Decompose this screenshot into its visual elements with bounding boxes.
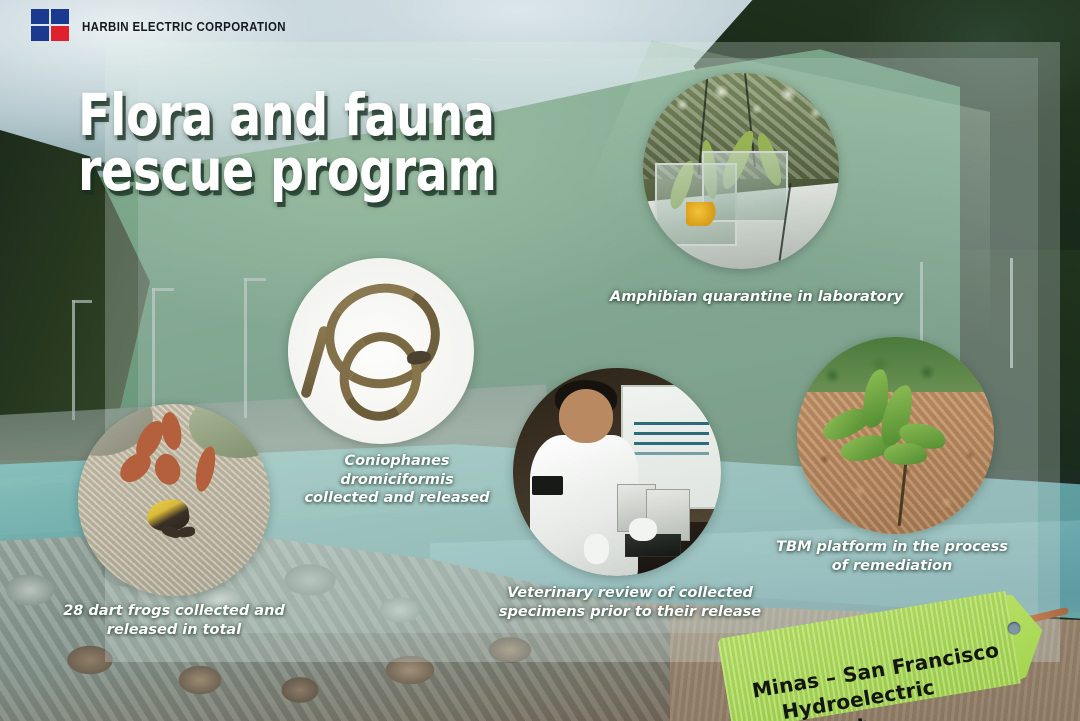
caption-amphibian-quarantine: Amphibian quarantine in laboratory (610, 288, 903, 307)
photo-content (78, 404, 270, 596)
photo-content (797, 337, 994, 534)
orchid-flower (686, 202, 717, 226)
company-name: HARBIN ELECTRIC CORPORATION (82, 20, 286, 34)
photo-content (288, 258, 474, 444)
lamp-post (72, 300, 75, 420)
photo-amphibian-quarantine[interactable] (643, 73, 839, 269)
lamp-arm (72, 300, 92, 303)
photo-dart-frogs[interactable] (78, 404, 270, 596)
logo-block-bottom-right (51, 26, 69, 41)
coat-badge (532, 476, 563, 495)
whiteboard-writing (634, 422, 709, 425)
caption-veterinary-review: Veterinary review of collected specimens… (498, 584, 762, 621)
logo-block-top-left (31, 9, 49, 24)
logo-block-top-right (51, 9, 69, 24)
photo-tbm-platform[interactable] (797, 337, 994, 534)
slide-header: HARBIN ELECTRIC CORPORATION (0, 0, 1080, 44)
photo-content (513, 368, 721, 576)
caption-dart-frogs: 28 dart frogs collected and released in … (58, 602, 290, 639)
photo-snake-released[interactable] (288, 258, 474, 444)
page-title: Flora and fauna rescue program (78, 88, 586, 197)
gloved-hand (629, 518, 656, 541)
gloved-hand (584, 534, 609, 563)
photo-veterinary-review[interactable] (513, 368, 721, 576)
veterinarian-face (559, 389, 613, 443)
background-vegetation (797, 337, 994, 392)
hec-logo-icon (31, 9, 69, 41)
photo-content (643, 73, 839, 269)
caption-snake-released: Coniophanes dromiciformis collected and … (288, 452, 506, 508)
caption-tbm-platform: TBM platform in the process of remediati… (772, 538, 1012, 575)
slide-canvas: HARBIN ELECTRIC CORPORATION Flora and fa… (0, 0, 1080, 721)
logo-block-bottom-left (31, 26, 49, 41)
